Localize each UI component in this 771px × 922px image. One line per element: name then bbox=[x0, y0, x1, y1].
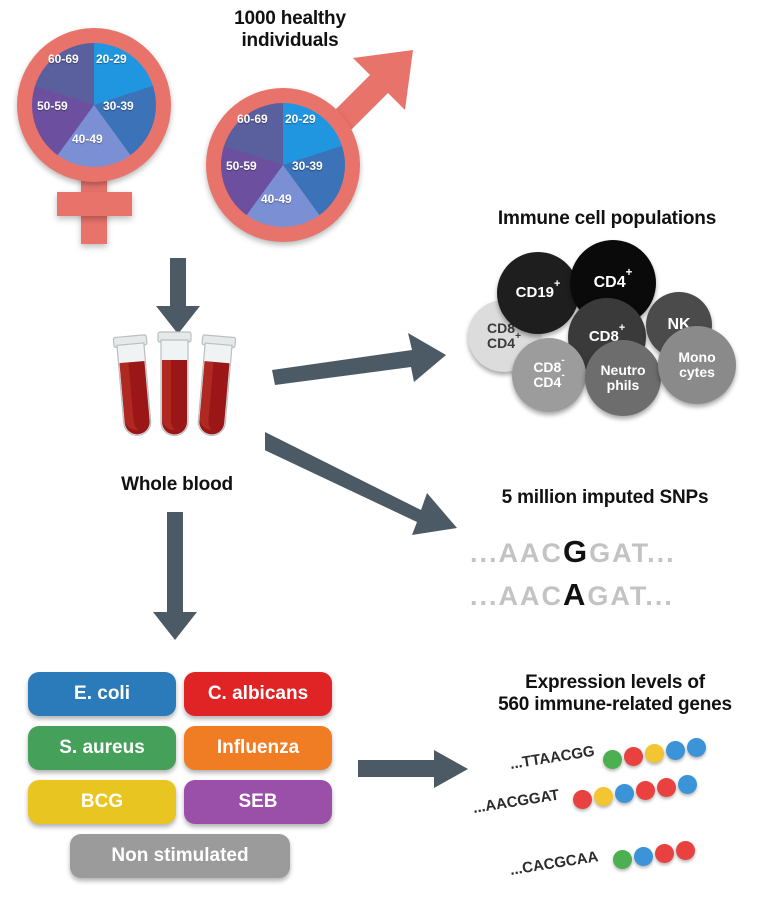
expression-bead-1-3 bbox=[645, 744, 664, 763]
expression-bead-2-2 bbox=[594, 787, 613, 806]
expression-strands: ...TTAACGG ...AACGGAT ...CACGCAA bbox=[455, 740, 765, 900]
expression-bead-2-4 bbox=[636, 781, 655, 800]
cell-neutrophils: Neutrophils bbox=[585, 340, 661, 416]
expression-bead-3-3 bbox=[655, 844, 674, 863]
expression-bead-1-1 bbox=[603, 750, 622, 769]
snp-row2-prefix: ...AAC bbox=[470, 581, 563, 611]
expression-bead-1-5 bbox=[687, 738, 706, 757]
snp-row1-prefix: ...AAC bbox=[470, 538, 563, 568]
snp-sequence-row-2: ...AACAGAT... bbox=[470, 577, 674, 613]
cell-cd19-positive: CD19+ bbox=[497, 252, 579, 334]
stimulus-c-albicans-label: C. albicans bbox=[208, 683, 308, 705]
stimulus-e-coli-label: E. coli bbox=[74, 683, 130, 705]
stimuli-panel: E. coli C. albicans S. aureus Influenza … bbox=[28, 672, 338, 897]
stimulus-non-stimulated[interactable]: Non stimulated bbox=[70, 834, 290, 878]
expression-bead-3-4 bbox=[676, 841, 695, 860]
expression-bead-3-1 bbox=[613, 850, 632, 869]
immune-heading: Immune cell populations bbox=[452, 208, 762, 230]
stimulus-s-aureus[interactable]: S. aureus bbox=[28, 726, 176, 770]
expression-bead-2-3 bbox=[615, 784, 634, 803]
cell-cd8-cd4-double-negative-label: CD8-CD4- bbox=[533, 360, 564, 389]
stimulus-influenza-label: Influenza bbox=[217, 737, 299, 759]
expression-bead-1-4 bbox=[666, 741, 685, 760]
female-symbol: 20-29 30-39 40-49 50-59 60-69 bbox=[10, 14, 190, 244]
stimulus-seb[interactable]: SEB bbox=[184, 780, 332, 824]
expression-bead-3-2 bbox=[634, 847, 653, 866]
arrow-blood-to-stimuli bbox=[152, 512, 198, 642]
snp-row1-suffix: GAT... bbox=[589, 538, 676, 568]
stimulus-bcg-label: BCG bbox=[81, 791, 123, 813]
expression-sequence-1: ...TTAACGG bbox=[509, 743, 596, 773]
cohort-heading-line1: 1000 healthy bbox=[175, 8, 405, 30]
blood-tubes bbox=[110, 330, 245, 450]
male-age-30-39: 30-39 bbox=[292, 159, 323, 173]
arrow-blood-to-snps bbox=[265, 432, 460, 542]
immune-cell-cluster: CD8+CD4+ CD19+ CD4+ CD8+ NK CD8-CD4- Neu… bbox=[460, 240, 760, 410]
stimulus-bcg[interactable]: BCG bbox=[28, 780, 176, 824]
cell-cd19-positive-label: CD19+ bbox=[516, 285, 561, 301]
cell-monocytes-label: Monocytes bbox=[678, 350, 715, 379]
female-age-40-49: 40-49 bbox=[72, 132, 103, 146]
expression-sequence-2: ...AACGGAT bbox=[472, 786, 561, 816]
snp-row2-variant: A bbox=[563, 577, 587, 612]
expression-heading-line2: 560 immune-related genes bbox=[470, 694, 760, 716]
expression-bead-1-2 bbox=[624, 747, 643, 766]
female-stem-horizontal bbox=[57, 192, 132, 216]
stimulus-e-coli[interactable]: E. coli bbox=[28, 672, 176, 716]
male-age-20-29: 20-29 bbox=[285, 112, 316, 126]
cell-neutrophils-label: Neutrophils bbox=[600, 363, 645, 392]
arrow-blood-to-immune bbox=[272, 325, 447, 385]
stimulus-non-stimulated-label: Non stimulated bbox=[111, 845, 248, 867]
cell-cd8-cd4-double-negative: CD8-CD4- bbox=[512, 338, 586, 412]
expression-sequence-3: ...CACGCAA bbox=[509, 848, 600, 879]
expression-heading-line1: Expression levels of bbox=[470, 672, 760, 694]
whole-blood-label: Whole blood bbox=[82, 474, 272, 496]
snp-row2-suffix: GAT... bbox=[587, 581, 674, 611]
arrow-cohort-to-blood bbox=[155, 258, 201, 336]
snps-heading: 5 million imputed SNPs bbox=[455, 487, 755, 509]
male-age-60-69: 60-69 bbox=[237, 112, 268, 126]
female-age-20-29: 20-29 bbox=[96, 52, 127, 66]
expression-bead-2-5 bbox=[657, 778, 676, 797]
cell-cd4-positive-label: CD4+ bbox=[594, 275, 633, 292]
expression-bead-2-1 bbox=[573, 790, 592, 809]
expression-bead-2-6 bbox=[678, 775, 697, 794]
stimulus-c-albicans[interactable]: C. albicans bbox=[184, 672, 332, 716]
expression-heading: Expression levels of 560 immune-related … bbox=[470, 672, 760, 717]
male-symbol: 20-29 30-39 40-49 50-59 60-69 bbox=[200, 42, 420, 262]
male-age-50-59: 50-59 bbox=[226, 159, 257, 173]
stimulus-s-aureus-label: S. aureus bbox=[59, 737, 145, 759]
female-age-50-59: 50-59 bbox=[37, 99, 68, 113]
male-age-40-49: 40-49 bbox=[261, 192, 292, 206]
cell-monocytes: Monocytes bbox=[658, 326, 736, 404]
stimulus-influenza[interactable]: Influenza bbox=[184, 726, 332, 770]
snp-sequence-row-1: ...AACGGAT... bbox=[470, 534, 676, 570]
arrow-stimuli-to-expression bbox=[358, 748, 470, 790]
snp-row1-variant: G bbox=[563, 534, 589, 569]
female-age-30-39: 30-39 bbox=[103, 99, 134, 113]
stimulus-seb-label: SEB bbox=[238, 791, 277, 813]
female-age-60-69: 60-69 bbox=[48, 52, 79, 66]
